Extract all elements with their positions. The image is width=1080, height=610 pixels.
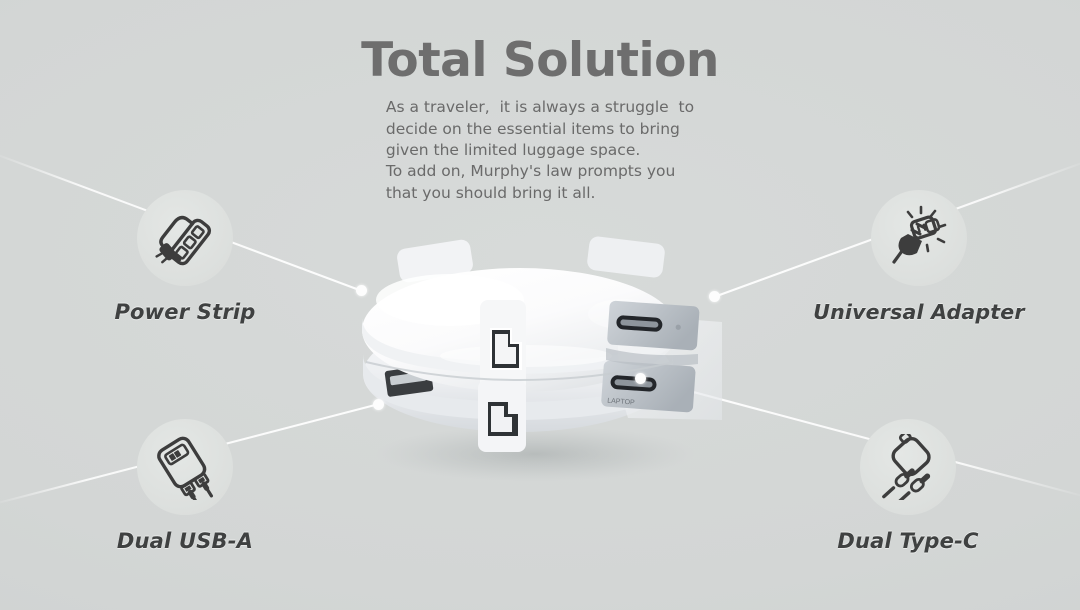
feature-label: Dual Type-C — [793, 529, 1023, 553]
feature-label: Universal Adapter — [804, 300, 1034, 324]
connector-dot-dual-usb-a — [373, 399, 384, 410]
feature-dual-type-c[interactable]: Dual Type-C — [793, 419, 1023, 553]
feature-dual-usb-a[interactable]: Dual USB-A — [70, 419, 300, 553]
connector-dot-power-strip — [356, 285, 367, 296]
feature-label: Power Strip — [70, 300, 300, 324]
connector-dot-universal-adapter — [709, 291, 720, 302]
universal-adapter-icon — [886, 205, 952, 271]
intro-line: As a traveler, it is always a struggle t… — [386, 97, 694, 118]
feature-label: Dual USB-A — [70, 529, 300, 553]
infographic-canvas: Total Solution As a traveler, it is alwa… — [0, 0, 1080, 610]
feature-universal-adapter[interactable]: Universal Adapter — [804, 190, 1034, 324]
feature-icon-circle — [137, 190, 233, 286]
dual-type-c-icon — [875, 434, 941, 500]
power-strip-icon — [152, 205, 218, 271]
feature-icon-circle — [871, 190, 967, 286]
travel-charger-product-photo: LAPTOP — [330, 222, 750, 502]
product-shadow — [375, 426, 695, 482]
intro-line: decide on the essential items to bring — [386, 119, 694, 140]
intro-line: To add on, Murphy's law prompts you — [386, 161, 694, 182]
dual-usb-a-icon — [152, 434, 218, 500]
feature-icon-circle — [137, 419, 233, 515]
intro-line: that you should bring it all. — [386, 183, 694, 204]
feature-power-strip[interactable]: Power Strip — [70, 190, 300, 324]
page-title: Total Solution — [0, 36, 1080, 85]
connector-dot-dual-type-c — [635, 373, 646, 384]
usb-c-port-panel: LAPTOP — [601, 300, 722, 420]
intro-line: given the limited luggage space. — [386, 140, 694, 161]
headline-block: Total Solution As a traveler, it is alwa… — [0, 36, 1080, 204]
feature-icon-circle — [860, 419, 956, 515]
intro-paragraph: As a traveler, it is always a struggle t… — [386, 97, 694, 204]
product-latch-front-lower — [478, 380, 526, 452]
